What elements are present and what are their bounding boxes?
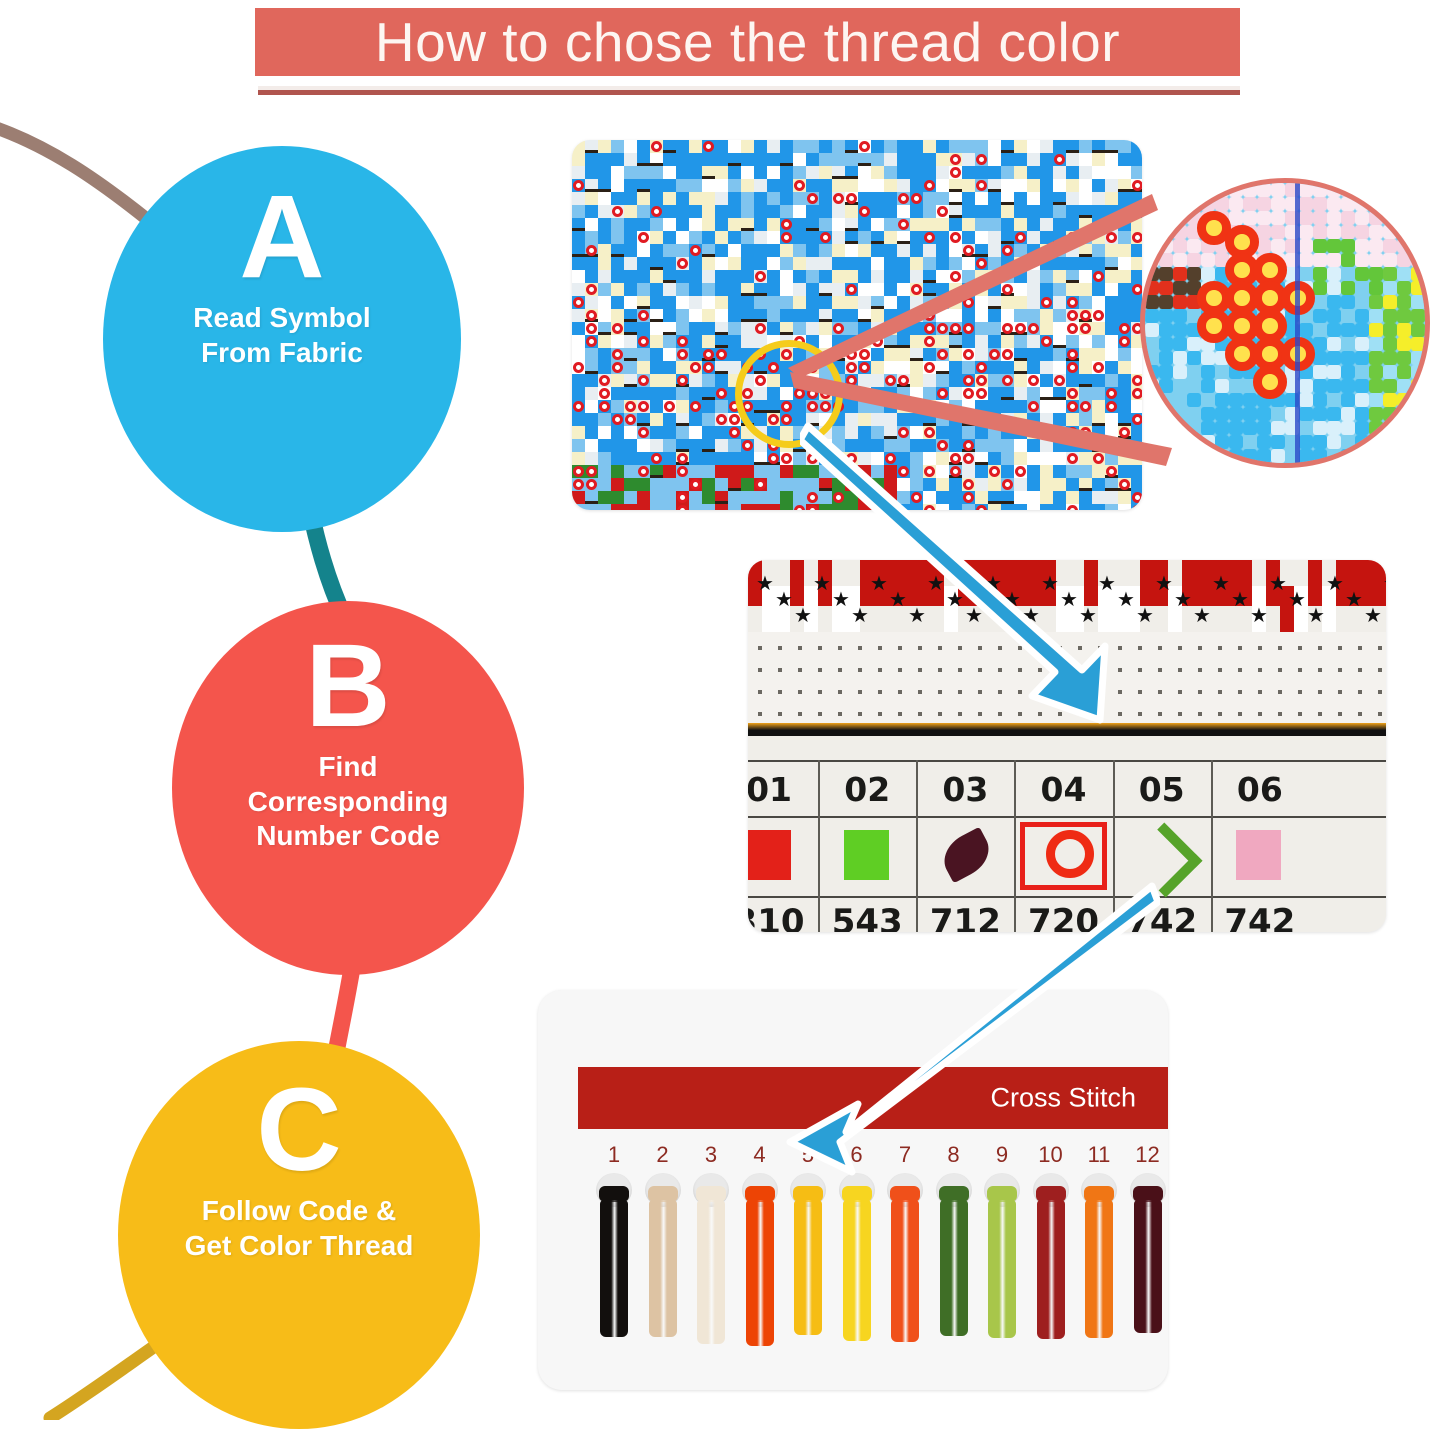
fabric-cell [650, 335, 663, 348]
magnifier-stitch [1327, 197, 1341, 211]
magnifier-stitch [1355, 267, 1369, 281]
fabric-cell [598, 244, 611, 257]
fabric-cell [611, 270, 624, 283]
chart-grid-dot [1318, 668, 1322, 672]
fabric-cell [663, 218, 676, 231]
thread-skein[interactable] [940, 1200, 968, 1336]
fabric-cell [611, 452, 624, 465]
fabric-cell [650, 179, 663, 192]
fabric-cell [676, 153, 689, 166]
magnifier-stitch [1383, 449, 1397, 463]
chart-grid-dot [1198, 712, 1202, 716]
magnifier-stitch [1145, 211, 1159, 225]
magnifier-stitch [1187, 365, 1201, 379]
fabric-cell [1131, 153, 1142, 166]
magnifier-stitch [1173, 393, 1187, 407]
chart-star-icon: ★ [1307, 606, 1327, 626]
fabric-cell [585, 166, 598, 179]
fabric-cell [767, 478, 780, 491]
fabric-cell [585, 348, 598, 361]
magnifier-stitch [1173, 379, 1187, 393]
thread-skein[interactable] [697, 1200, 725, 1344]
fabric-cell [754, 192, 767, 205]
fabric-symbol-ring [638, 466, 649, 477]
fabric-cell [754, 244, 767, 257]
fabric-cell [949, 140, 962, 153]
thread-skein[interactable] [794, 1200, 822, 1335]
fabric-cell [663, 205, 676, 218]
fabric-cell [962, 166, 975, 179]
fabric-symbol-ring [573, 479, 584, 490]
fabric-cell [689, 309, 702, 322]
chart-grid-dot [1218, 646, 1222, 650]
fabric-cell [689, 257, 702, 270]
fabric-cell [637, 348, 650, 361]
fabric-cell [611, 192, 624, 205]
fabric-cell [728, 504, 741, 510]
chart-star-icon: ★ [1383, 574, 1386, 594]
chart-grid-dot [1378, 712, 1382, 716]
fabric-cell [728, 257, 741, 270]
fabric-symbol-ring [755, 323, 766, 334]
magnifier-stitch [1411, 379, 1425, 393]
fabric-cell [650, 413, 663, 426]
magnifier-stitch [1271, 435, 1285, 449]
fabric-cell [624, 439, 637, 452]
thread-skein[interactable] [891, 1200, 919, 1342]
magnifier-guide-line [1295, 183, 1300, 463]
fabric-cell [637, 244, 650, 257]
magnifier-stitch [1229, 211, 1243, 225]
fabric-cell [650, 166, 663, 179]
magnifier-stitch [1243, 407, 1257, 421]
fabric-cell [767, 166, 780, 179]
fabric-symbol-ring [638, 427, 649, 438]
fabric-symbol-ring [638, 375, 649, 386]
fabric-symbol-ring [599, 388, 610, 399]
fabric-cell [871, 166, 884, 179]
magnifier-stitch [1355, 407, 1369, 421]
magnifier-stitch [1145, 295, 1159, 309]
page-title: How to chose the thread color [375, 15, 1120, 70]
magnifier-stitch [1257, 435, 1271, 449]
fabric-cell [676, 478, 689, 491]
magnifier-stitch [1369, 351, 1383, 365]
fabric-cell [728, 179, 741, 192]
fabric-cell [572, 231, 585, 244]
magnifier-stitch [1327, 323, 1341, 337]
magnifier-stitch [1411, 183, 1425, 197]
fabric-cell [975, 166, 988, 179]
magnifier-stitch [1369, 393, 1383, 407]
magnifier-stitch [1355, 295, 1369, 309]
fabric-symbol-ring [755, 479, 766, 490]
fabric-cell [767, 465, 780, 478]
chart-grid-dot [1358, 712, 1362, 716]
fabric-cell [663, 465, 676, 478]
chart-hline [748, 760, 1386, 762]
fabric-cell [598, 296, 611, 309]
fabric-cell [702, 270, 715, 283]
fabric-cell [741, 179, 754, 192]
fabric-symbol-ring [586, 245, 597, 256]
magnifier-stitch [1341, 267, 1355, 281]
fabric-cell [689, 439, 702, 452]
fabric-cell [689, 335, 702, 348]
magnifier-stitch [1299, 267, 1313, 281]
fabric-cell [598, 465, 611, 478]
fabric-cell [689, 348, 702, 361]
magnifier-stitch [1159, 281, 1173, 295]
magnifier-stitch [1243, 197, 1257, 211]
chart-grid-dot [1198, 646, 1202, 650]
fabric-cell [767, 192, 780, 205]
fabric-cell [754, 179, 767, 192]
fabric-cell [611, 335, 624, 348]
chart-star-icon: ★ [1345, 590, 1365, 610]
fabric-cell [728, 244, 741, 257]
fabric-cell [585, 218, 598, 231]
fabric-cell [702, 231, 715, 244]
fabric-cell [637, 504, 650, 510]
fabric-cell [663, 478, 676, 491]
magnifier-stitch [1215, 393, 1229, 407]
fabric-cell [884, 140, 897, 153]
fabric-cell [637, 140, 650, 153]
magnifier-stitch [1187, 183, 1201, 197]
fabric-cell [702, 192, 715, 205]
fabric-cell [715, 218, 728, 231]
chart-grid-dot [1178, 690, 1182, 694]
magnifier-stitch [1201, 351, 1215, 365]
magnifier-stitch [1145, 393, 1159, 407]
fabric-cell [572, 283, 585, 296]
chart-grid-dot [1298, 690, 1302, 694]
step-a-line-1: Read Symbol [193, 301, 370, 335]
fabric-symbol-ring [950, 154, 961, 165]
thread-skein[interactable] [988, 1200, 1016, 1338]
fabric-cell [663, 504, 676, 510]
magnifier-stitch [1173, 183, 1187, 197]
fabric-cell [650, 439, 663, 452]
fabric-cell [585, 231, 598, 244]
magnifier-stitch [1299, 239, 1313, 253]
fabric-cell [793, 166, 806, 179]
magnifier-stitch [1327, 337, 1341, 351]
magnifier-stitch [1271, 449, 1285, 463]
fabric-cell [663, 231, 676, 244]
fabric-symbol-ring [716, 388, 727, 399]
fabric-cell [637, 491, 650, 504]
chart-symbol-square [1236, 830, 1281, 880]
fabric-symbol-ring [612, 323, 623, 334]
fabric-cell [754, 153, 767, 166]
fabric-cell [611, 166, 624, 179]
magnifier-stitch [1173, 239, 1187, 253]
fabric-cell [806, 166, 819, 179]
fabric-cell [741, 478, 754, 491]
fabric-cell [585, 205, 598, 218]
magnifier-stitch [1299, 449, 1313, 463]
magnifier-stitch [1383, 183, 1397, 197]
fabric-cell [1105, 166, 1118, 179]
magnifier-stitch [1411, 267, 1425, 281]
magnifier-stitch [1257, 421, 1271, 435]
fabric-cell [741, 153, 754, 166]
fabric-cell [637, 192, 650, 205]
magnifier-stitch [1145, 253, 1159, 267]
fabric-cell [585, 413, 598, 426]
fabric-symbol-ring [599, 375, 610, 386]
fabric-cell [689, 153, 702, 166]
fabric-cell [715, 426, 728, 439]
magnifier-stitch [1313, 449, 1327, 463]
fabric-cell [624, 478, 637, 491]
magnifier-stitch [1341, 365, 1355, 379]
fabric-cell [962, 140, 975, 153]
fabric-cell [741, 322, 754, 335]
fabric-cell [689, 231, 702, 244]
chart-column-index: 05 [1113, 770, 1211, 809]
magnifier-stitch [1397, 225, 1411, 239]
magnifier-stitch [1341, 323, 1355, 337]
fabric-cell [780, 504, 793, 510]
fabric-cell [767, 257, 780, 270]
magnifier-stitch [1159, 365, 1173, 379]
fabric-cell [624, 257, 637, 270]
magnifier-stitch [1257, 183, 1271, 197]
fabric-symbol-ring [573, 362, 584, 373]
chart-grid-dot [1258, 646, 1262, 650]
magnifier-stitch [1369, 281, 1383, 295]
magnifier-stitch [1369, 239, 1383, 253]
fabric-cell [663, 244, 676, 257]
magnifier-stitch [1313, 309, 1327, 323]
magnifier-stitch [1313, 197, 1327, 211]
magnifier-stitch [1383, 421, 1397, 435]
magnifier-stitch [1355, 449, 1369, 463]
magnifier-stitch [1187, 393, 1201, 407]
magnifier-stitch [1397, 239, 1411, 253]
magnifier-stitch [1355, 351, 1369, 365]
step-b-line-1: Find [248, 750, 449, 784]
fabric-symbol-ring [573, 297, 584, 308]
chart-grid-dot [758, 668, 762, 672]
fabric-cell [702, 452, 715, 465]
fabric-cell [689, 322, 702, 335]
magnifier-stitch [1383, 211, 1397, 225]
fabric-cell [1131, 140, 1142, 153]
magnifier-stitch [1327, 309, 1341, 323]
fabric-cell [650, 504, 663, 510]
thread-skein[interactable] [843, 1200, 871, 1341]
thread-skein[interactable] [1085, 1200, 1113, 1338]
magnifier-stitch [1201, 449, 1215, 463]
magnifier-stitch [1299, 225, 1313, 239]
magnifier-stitch [1271, 407, 1285, 421]
magnifier-stitch [1397, 379, 1411, 393]
fabric-cell [611, 439, 624, 452]
magnifier-stitch [1145, 323, 1159, 337]
chart-grid-dot [1378, 690, 1382, 694]
step-b-letter: B [305, 623, 390, 750]
magnifier-stitch [1201, 253, 1215, 267]
magnifier-stitch [1299, 211, 1313, 225]
fabric-cell [572, 452, 585, 465]
magnifier-stitch [1299, 323, 1313, 337]
fabric-cell [676, 244, 689, 257]
fabric-cell [767, 504, 780, 510]
magnifier-stitch [1215, 407, 1229, 421]
step-circle-b[interactable]: B Find Corresponding Number Code [172, 601, 524, 975]
fabric-cell [650, 348, 663, 361]
fabric-cell [650, 374, 663, 387]
fabric-cell [572, 270, 585, 283]
fabric-cell [676, 231, 689, 244]
magnifier-stitch [1159, 183, 1173, 197]
fabric-cell [637, 452, 650, 465]
chart-column-index: 04 [1014, 770, 1112, 809]
fabric-cell [715, 400, 728, 413]
fabric-cell [624, 335, 637, 348]
chart-grid-dot [1178, 646, 1182, 650]
chart-band-block [1364, 560, 1378, 606]
magnifier-stitch [1257, 407, 1271, 421]
fabric-symbol-ring [703, 362, 714, 373]
fabric-cell [676, 192, 689, 205]
fabric-cell [637, 478, 650, 491]
magnifier-stitch [1341, 435, 1355, 449]
fabric-cell [741, 205, 754, 218]
fabric-cell [689, 296, 702, 309]
fabric-cell [598, 231, 611, 244]
fabric-cell [897, 153, 910, 166]
step-circle-a[interactable]: A Read Symbol From Fabric [103, 146, 461, 532]
magnifier-stitch [1355, 365, 1369, 379]
fabric-cell [611, 426, 624, 439]
magnifier-stitch [1411, 211, 1425, 225]
fabric-cell [715, 140, 728, 153]
magnifier-stitch [1145, 337, 1159, 351]
magnifier-stitch [1397, 435, 1411, 449]
fabric-symbol-ring [651, 453, 662, 464]
fabric-cell [611, 218, 624, 231]
magnifier-stitch [1327, 281, 1341, 295]
magnifier-stitch [1355, 239, 1369, 253]
fabric-cell [910, 153, 923, 166]
magnifier-stitch [1383, 337, 1397, 351]
arrow-fabric-to-chart [800, 420, 1160, 750]
fabric-cell [884, 153, 897, 166]
magnifier-stitch [1299, 435, 1313, 449]
fabric-cell [741, 335, 754, 348]
fabric-cell [611, 374, 624, 387]
fabric-cell [806, 153, 819, 166]
magnifier-stitch [1243, 421, 1257, 435]
page-title-banner: How to chose the thread color [255, 8, 1240, 76]
chart-grid-dot [1358, 690, 1362, 694]
fabric-cell [767, 270, 780, 283]
fabric-cell [1118, 153, 1131, 166]
chart-grid-dot [1218, 712, 1222, 716]
magnifier-stitch [1327, 407, 1341, 421]
magnifier-stitch [1159, 407, 1173, 421]
fabric-symbol-ring [690, 401, 701, 412]
fabric-cell [663, 348, 676, 361]
fabric-cell [572, 491, 585, 504]
chart-grid-dot [1258, 712, 1262, 716]
magnifier-stitch [1341, 281, 1355, 295]
step-b-description: Find Corresponding Number Code [234, 750, 463, 852]
magnifier-stitch [1369, 449, 1383, 463]
magnifier-stitch [1215, 197, 1229, 211]
fabric-cell [689, 166, 702, 179]
magnifier-stitch [1383, 407, 1397, 421]
magnifier-stitch [1243, 449, 1257, 463]
magnifier-stitch [1369, 225, 1383, 239]
magnifier-stitch [1313, 379, 1327, 393]
thread-skein[interactable] [1134, 1200, 1162, 1333]
fabric-cell [702, 153, 715, 166]
step-circle-c[interactable]: C Follow Code & Get Color Thread [118, 1041, 480, 1429]
magnifier-stitch [1341, 407, 1355, 421]
magnifier-stitch [1313, 253, 1327, 267]
magnifier-stitch [1383, 435, 1397, 449]
magnifier-stitch [1327, 449, 1341, 463]
magnifier-stitch [1341, 421, 1355, 435]
magnifier-stitch [1327, 267, 1341, 281]
fabric-cell [598, 452, 611, 465]
fabric-symbol-ring [612, 206, 623, 217]
fabric-symbol-ring [638, 310, 649, 321]
fabric-cell [741, 257, 754, 270]
thread-skein[interactable] [746, 1200, 774, 1346]
magnifier-stitch [1173, 351, 1187, 365]
fabric-cell [728, 348, 741, 361]
chart-grid-dot [778, 646, 782, 650]
fabric-cell [585, 452, 598, 465]
fabric-cell [975, 140, 988, 153]
thread-skein[interactable] [649, 1200, 677, 1337]
fabric-cell [819, 166, 832, 179]
magnifier-stitch [1397, 351, 1411, 365]
fabric-symbol-ring [768, 453, 779, 464]
magnifier-stitch [1411, 337, 1425, 351]
fabric-cell [624, 296, 637, 309]
fabric-cell [689, 504, 702, 510]
fabric-cell [741, 244, 754, 257]
magnifier-stitch [1201, 365, 1215, 379]
chart-band-block [1308, 560, 1322, 606]
fabric-cell [741, 140, 754, 153]
thread-skein[interactable] [600, 1200, 628, 1337]
fabric-cell [728, 140, 741, 153]
fabric-cell [702, 179, 715, 192]
fabric-cell [715, 244, 728, 257]
chart-star-icon: ★ [775, 590, 795, 610]
fabric-cell [1131, 166, 1142, 179]
thread-skein[interactable] [1037, 1200, 1065, 1339]
fabric-cell [715, 153, 728, 166]
fabric-cell [1092, 166, 1105, 179]
magnifier-stitch [1229, 421, 1243, 435]
fabric-cell [1040, 166, 1053, 179]
fabric-cell [676, 166, 689, 179]
magnifier-stitch [1299, 253, 1313, 267]
fabric-cell [572, 335, 585, 348]
fabric-cell [728, 218, 741, 231]
magnifier-stitch [1383, 351, 1397, 365]
